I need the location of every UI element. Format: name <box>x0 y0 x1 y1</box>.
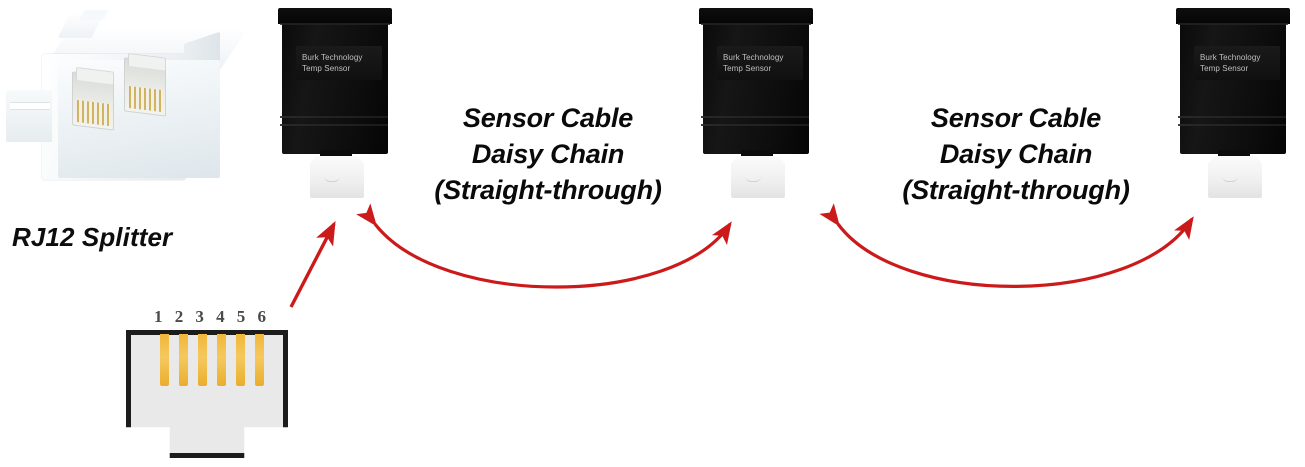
sensor-1-body <box>282 14 388 154</box>
sensor-1-top-cap <box>278 8 392 24</box>
chain-label-2-line1: Sensor Cable <box>866 100 1166 136</box>
sensor-2-ridge-lower <box>701 124 809 126</box>
splitter-clip-tip <box>79 10 109 20</box>
temp-sensor-2: Burk Technology Temp Sensor <box>697 4 815 204</box>
pin-number-5: 5 <box>237 308 246 328</box>
sensor-3-ridge-upper <box>1178 116 1286 118</box>
sensor-1-label-plate: Burk Technology Temp Sensor <box>296 46 382 80</box>
pin-number-4: 4 <box>216 308 225 328</box>
sensor-3-cap-seam <box>1178 23 1288 25</box>
chain-label-1-line2: Daisy Chain <box>398 136 698 172</box>
rj12-splitter-image <box>6 8 236 198</box>
sensor-1-model: Temp Sensor <box>302 63 382 74</box>
jack-pin-4 <box>217 334 226 386</box>
pin-number-1: 1 <box>154 308 163 328</box>
chain-label-2-line3: (Straight-through) <box>866 172 1166 208</box>
diagram-canvas: RJ12 Splitter Burk Technology Temp Senso… <box>0 0 1305 467</box>
sensor-2-model: Temp Sensor <box>723 63 803 74</box>
sensor-2-cap-seam <box>701 23 811 25</box>
sensor-1-ridge-lower <box>280 124 388 126</box>
sensor-2-brand: Burk Technology <box>723 52 803 63</box>
chain-label-2-line2: Daisy Chain <box>866 136 1166 172</box>
temp-sensor-3: Burk Technology Temp Sensor <box>1174 4 1292 204</box>
rj12-jack-pinout: 1 2 3 4 5 6 <box>120 308 300 463</box>
pin-number-row: 1 2 3 4 5 6 <box>154 308 266 328</box>
jack-pin-1 <box>160 334 169 386</box>
sensor-1-cap-seam <box>280 23 390 25</box>
sensor-3-top-cap <box>1176 8 1290 24</box>
arrow-jack-to-sensor-1 <box>291 224 334 307</box>
splitter-port-1 <box>72 71 114 130</box>
arrow-sensor-1-to-sensor-2 <box>375 224 730 287</box>
sensor-2-top-cap <box>699 8 813 24</box>
arrow-sensor-2-to-sensor-3 <box>838 219 1192 286</box>
jack-pin-6 <box>255 334 264 386</box>
splitter-male-plug <box>6 90 52 142</box>
splitter-port-2 <box>124 57 166 116</box>
jack-pin-2 <box>179 334 188 386</box>
pin-number-2: 2 <box>175 308 184 328</box>
sensor-2-body <box>703 14 809 154</box>
sensor-3-model: Temp Sensor <box>1200 63 1280 74</box>
sensor-3-brand: Burk Technology <box>1200 52 1280 63</box>
chain-label-1-line1: Sensor Cable <box>398 100 698 136</box>
sensor-2-label-plate: Burk Technology Temp Sensor <box>717 46 803 80</box>
jack-contact-pins <box>160 334 264 386</box>
sensor-1-ridge-upper <box>280 116 388 118</box>
pin-number-3: 3 <box>195 308 204 328</box>
chain-label-1-line3: (Straight-through) <box>398 172 698 208</box>
sensor-3-label-plate: Burk Technology Temp Sensor <box>1194 46 1280 80</box>
splitter-plug-lip <box>10 102 50 110</box>
daisy-chain-label-2: Sensor Cable Daisy Chain (Straight-throu… <box>866 100 1166 208</box>
rj12-splitter-label: RJ12 Splitter <box>12 222 172 253</box>
daisy-chain-label-1: Sensor Cable Daisy Chain (Straight-throu… <box>398 100 698 208</box>
sensor-3-ridge-lower <box>1178 124 1286 126</box>
pin-number-6: 6 <box>257 308 266 328</box>
sensor-1-brand: Burk Technology <box>302 52 382 63</box>
sensor-2-ridge-upper <box>701 116 809 118</box>
temp-sensor-1: Burk Technology Temp Sensor <box>276 4 394 204</box>
jack-pin-3 <box>198 334 207 386</box>
splitter-port-1-pins <box>77 100 111 126</box>
splitter-port-2-pins <box>129 86 163 112</box>
sensor-3-body <box>1180 14 1286 154</box>
jack-pin-5 <box>236 334 245 386</box>
